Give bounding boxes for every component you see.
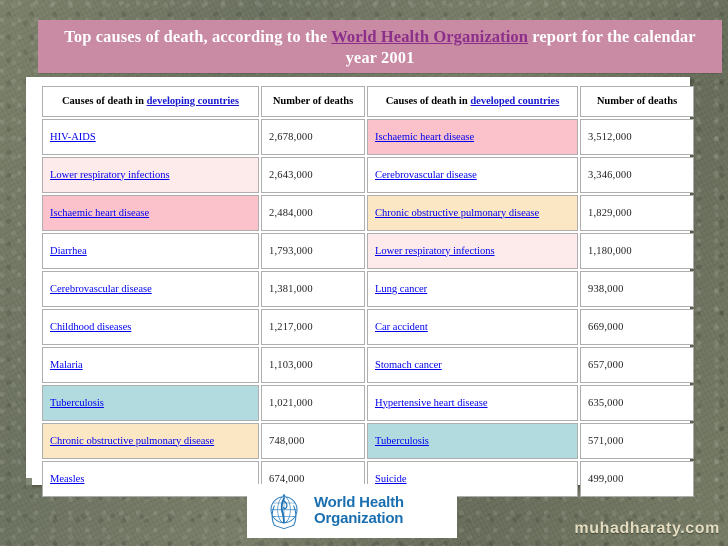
deaths-value: 635,000 bbox=[588, 398, 624, 409]
cause-link[interactable]: Malaria bbox=[50, 360, 83, 371]
developed-countries-link[interactable]: developed countries bbox=[470, 96, 559, 107]
deaths-value: 571,000 bbox=[588, 436, 624, 447]
cause-link[interactable]: Stomach cancer bbox=[375, 360, 442, 371]
cell-developed-deaths: 635,000 bbox=[580, 385, 694, 421]
cell-developed-cause: Ischaemic heart disease bbox=[367, 119, 578, 155]
deaths-value: 938,000 bbox=[588, 284, 624, 295]
cell-developing-cause: Malaria bbox=[42, 347, 259, 383]
cell-developing-deaths: 1,793,000 bbox=[261, 233, 365, 269]
cell-developed-cause: Lung cancer bbox=[367, 271, 578, 307]
cause-link[interactable]: Chronic obstructive pulmonary disease bbox=[375, 208, 539, 219]
cell-developing-deaths: 1,381,000 bbox=[261, 271, 365, 307]
who-link[interactable]: World Health Organization bbox=[331, 27, 528, 46]
deaths-value: 674,000 bbox=[269, 474, 305, 485]
site-watermark: muhadharaty.com bbox=[574, 520, 720, 538]
who-wordmark-line1: World Health bbox=[314, 495, 404, 512]
deaths-value: 3,346,000 bbox=[588, 170, 632, 181]
deaths-value: 2,678,000 bbox=[269, 132, 313, 143]
cell-developing-deaths: 2,678,000 bbox=[261, 119, 365, 155]
deaths-value: 1,021,000 bbox=[269, 398, 313, 409]
cause-link[interactable]: Car accident bbox=[375, 322, 428, 333]
cell-developing-cause: Chronic obstructive pulmonary disease bbox=[42, 423, 259, 459]
cause-link[interactable]: Chronic obstructive pulmonary disease bbox=[50, 436, 214, 447]
deaths-value: 1,829,000 bbox=[588, 208, 632, 219]
table-body: HIV-AIDS2,678,000Ischaemic heart disease… bbox=[42, 119, 694, 497]
table-row: Childhood diseases1,217,000Car accident6… bbox=[42, 309, 694, 345]
table-row: Diarrhea1,793,000Lower respiratory infec… bbox=[42, 233, 694, 269]
slide-title-banner: Top causes of death, according to the Wo… bbox=[38, 20, 722, 73]
header-text: Number of deaths bbox=[597, 96, 677, 107]
cause-link[interactable]: HIV-AIDS bbox=[50, 132, 96, 143]
column-header-developing-deaths: Number of deaths bbox=[261, 86, 365, 117]
cause-link[interactable]: Ischaemic heart disease bbox=[375, 132, 474, 143]
cell-developing-deaths: 2,643,000 bbox=[261, 157, 365, 193]
cause-link[interactable]: Lower respiratory infections bbox=[375, 246, 495, 257]
table-row: Lower respiratory infections2,643,000Cer… bbox=[42, 157, 694, 193]
table-row: Malaria1,103,000Stomach cancer657,000 bbox=[42, 347, 694, 383]
table-header-row: Causes of death in developing countries … bbox=[42, 86, 694, 117]
cell-developing-cause: Tuberculosis bbox=[42, 385, 259, 421]
deaths-value: 657,000 bbox=[588, 360, 624, 371]
cell-developed-deaths: 3,346,000 bbox=[580, 157, 694, 193]
cause-link[interactable]: Tuberculosis bbox=[50, 398, 104, 409]
cell-developed-deaths: 499,000 bbox=[580, 461, 694, 497]
table-row: HIV-AIDS2,678,000Ischaemic heart disease… bbox=[42, 119, 694, 155]
table-row: Tuberculosis1,021,000Hypertensive heart … bbox=[42, 385, 694, 421]
cell-developed-cause: Lower respiratory infections bbox=[367, 233, 578, 269]
cell-developing-deaths: 1,217,000 bbox=[261, 309, 365, 345]
title-prefix: Top causes of death, according to the bbox=[64, 27, 331, 46]
column-header-developing-cause: Causes of death in developing countries bbox=[42, 86, 259, 117]
cause-link[interactable]: Lower respiratory infections bbox=[50, 170, 170, 181]
causes-of-death-table: Causes of death in developing countries … bbox=[40, 84, 696, 499]
deaths-value: 1,793,000 bbox=[269, 246, 313, 257]
deaths-value: 1,381,000 bbox=[269, 284, 313, 295]
cell-developing-deaths: 2,484,000 bbox=[261, 195, 365, 231]
table-row: Chronic obstructive pulmonary disease748… bbox=[42, 423, 694, 459]
cause-link[interactable]: Childhood diseases bbox=[50, 322, 131, 333]
cell-developing-cause: Childhood diseases bbox=[42, 309, 259, 345]
cell-developed-cause: Cerebrovascular disease bbox=[367, 157, 578, 193]
header-text: Number of deaths bbox=[273, 96, 353, 107]
page-title: Top causes of death, according to the Wo… bbox=[52, 26, 708, 68]
developing-countries-link[interactable]: developing countries bbox=[147, 96, 239, 107]
cause-link[interactable]: Diarrhea bbox=[50, 246, 87, 257]
cell-developed-deaths: 1,180,000 bbox=[580, 233, 694, 269]
deaths-value: 748,000 bbox=[269, 436, 305, 447]
cell-developed-cause: Chronic obstructive pulmonary disease bbox=[367, 195, 578, 231]
deaths-value: 1,217,000 bbox=[269, 322, 313, 333]
cell-developed-deaths: 571,000 bbox=[580, 423, 694, 459]
cell-developing-cause: Measles bbox=[42, 461, 259, 497]
cause-link[interactable]: Suicide bbox=[375, 474, 407, 485]
cell-developed-cause: Hypertensive heart disease bbox=[367, 385, 578, 421]
cause-link[interactable]: Ischaemic heart disease bbox=[50, 208, 149, 219]
deaths-value: 669,000 bbox=[588, 322, 624, 333]
deaths-value: 2,484,000 bbox=[269, 208, 313, 219]
deaths-value: 1,103,000 bbox=[269, 360, 313, 371]
cell-developing-deaths: 748,000 bbox=[261, 423, 365, 459]
column-header-developed-cause: Causes of death in developed countries bbox=[367, 86, 578, 117]
who-emblem-icon bbox=[263, 490, 305, 532]
cause-link[interactable]: Cerebrovascular disease bbox=[375, 170, 477, 181]
cell-developing-cause: Lower respiratory infections bbox=[42, 157, 259, 193]
who-wordmark-line2: Organization bbox=[314, 511, 404, 528]
table-row: Ischaemic heart disease2,484,000Chronic … bbox=[42, 195, 694, 231]
cell-developing-deaths: 1,103,000 bbox=[261, 347, 365, 383]
who-logo: World Health Organization bbox=[247, 484, 457, 538]
cause-link[interactable]: Hypertensive heart disease bbox=[375, 398, 488, 409]
column-header-developed-deaths: Number of deaths bbox=[580, 86, 694, 117]
cell-developed-deaths: 657,000 bbox=[580, 347, 694, 383]
cause-link[interactable]: Lung cancer bbox=[375, 284, 427, 295]
cell-developed-deaths: 1,829,000 bbox=[580, 195, 694, 231]
table-row: Cerebrovascular disease1,381,000Lung can… bbox=[42, 271, 694, 307]
cell-developed-cause: Tuberculosis bbox=[367, 423, 578, 459]
deaths-value: 3,512,000 bbox=[588, 132, 632, 143]
cell-developing-deaths: 1,021,000 bbox=[261, 385, 365, 421]
cell-developed-cause: Stomach cancer bbox=[367, 347, 578, 383]
header-text: Causes of death in bbox=[386, 96, 471, 107]
slide-canvas: Top causes of death, according to the Wo… bbox=[0, 0, 728, 546]
cell-developed-deaths: 669,000 bbox=[580, 309, 694, 345]
deaths-value: 2,643,000 bbox=[269, 170, 313, 181]
cell-developed-deaths: 938,000 bbox=[580, 271, 694, 307]
cell-developing-cause: HIV-AIDS bbox=[42, 119, 259, 155]
cell-developing-cause: Cerebrovascular disease bbox=[42, 271, 259, 307]
cell-developing-cause: Ischaemic heart disease bbox=[42, 195, 259, 231]
cell-developed-cause: Car accident bbox=[367, 309, 578, 345]
cell-developing-cause: Diarrhea bbox=[42, 233, 259, 269]
deaths-value: 1,180,000 bbox=[588, 246, 632, 257]
cause-link[interactable]: Cerebrovascular disease bbox=[50, 284, 152, 295]
cause-link[interactable]: Measles bbox=[50, 474, 84, 485]
header-text: Causes of death in bbox=[62, 96, 147, 107]
deaths-value: 499,000 bbox=[588, 474, 624, 485]
cause-link[interactable]: Tuberculosis bbox=[375, 436, 429, 447]
cell-developed-deaths: 3,512,000 bbox=[580, 119, 694, 155]
who-wordmark: World Health Organization bbox=[314, 495, 404, 528]
